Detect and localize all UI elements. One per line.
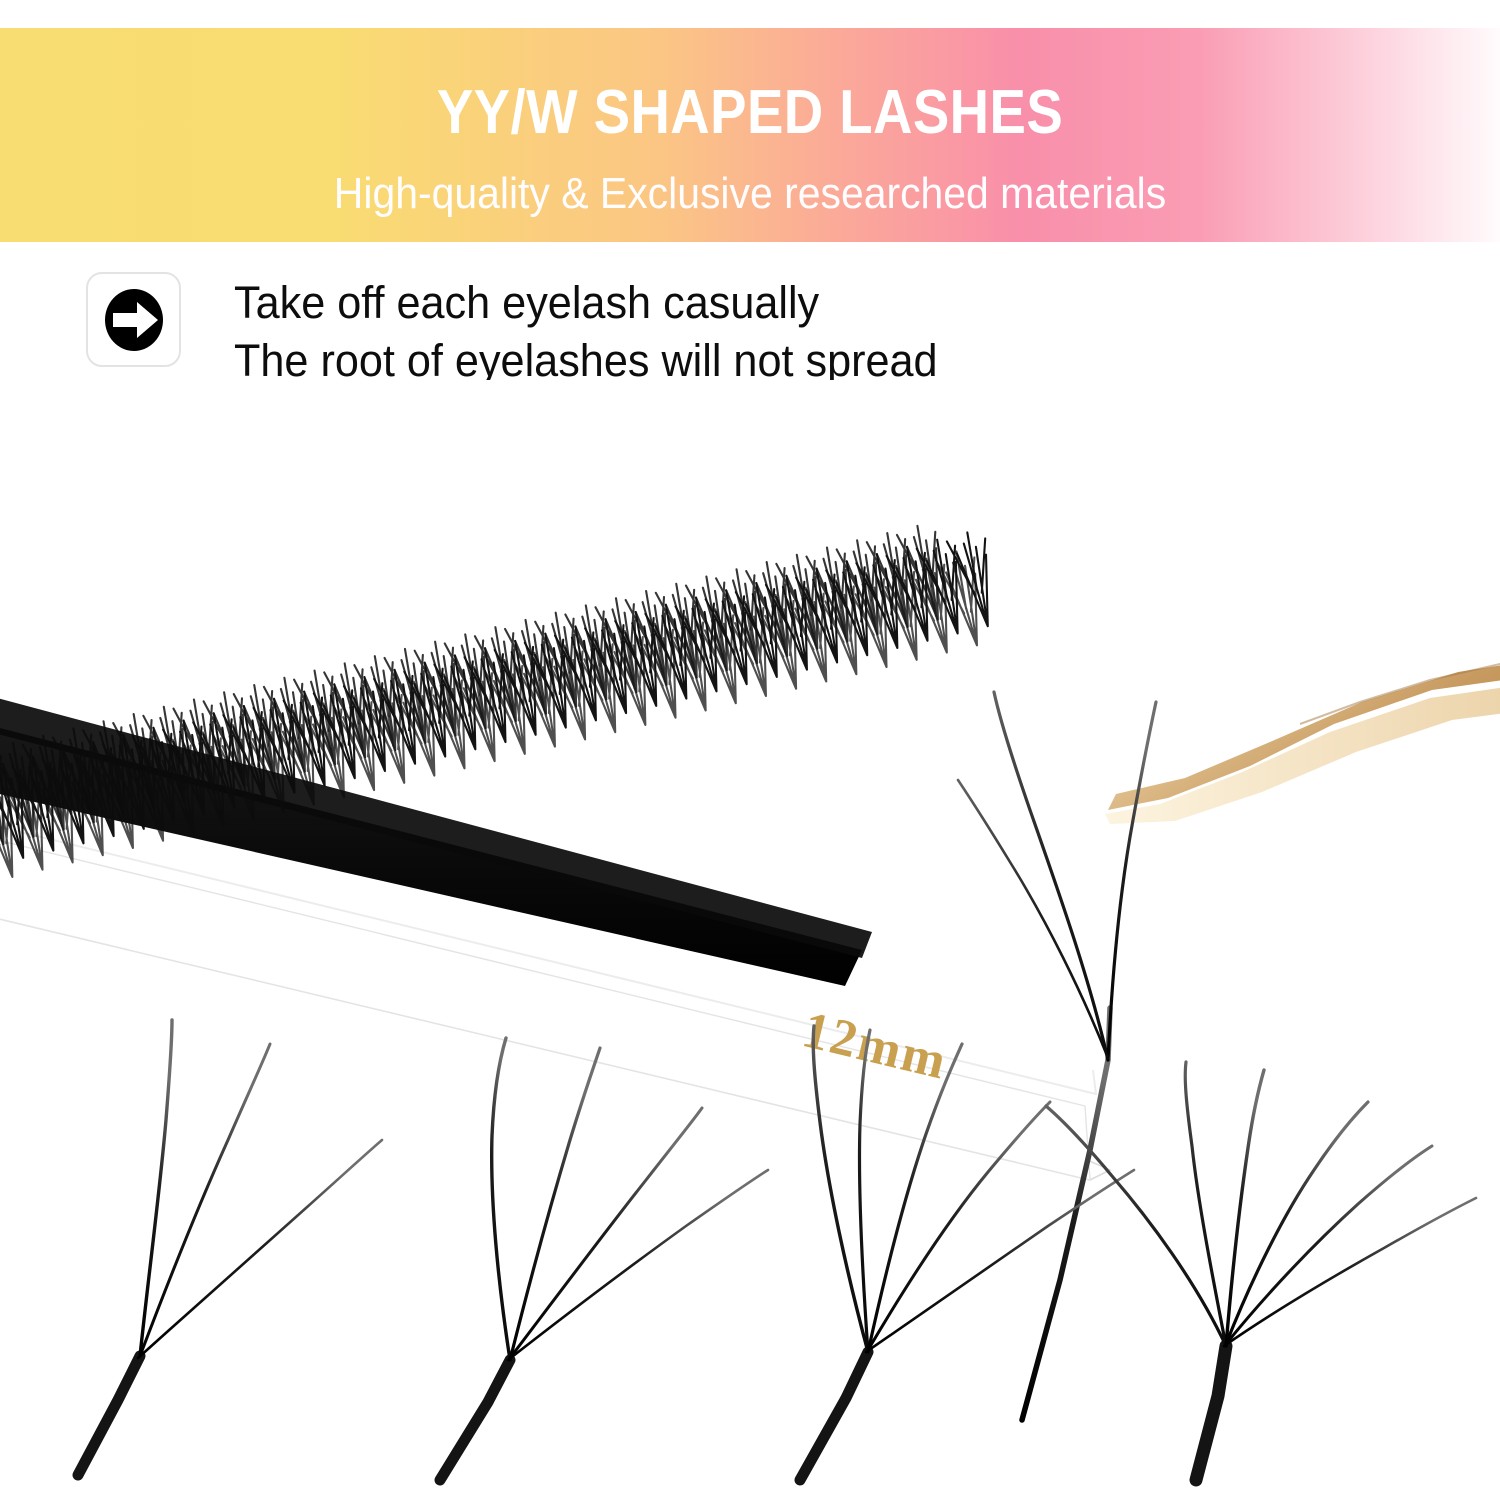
- lash-fan-tray: [0, 511, 1009, 889]
- tweezer: [1105, 656, 1500, 824]
- fan-6-branch: [1046, 1062, 1476, 1480]
- instruction-line-1: Take off each eyelash casually: [234, 274, 938, 332]
- instruction-block: Take off each eyelash casually The root …: [86, 272, 967, 390]
- page-subtitle: High-quality & Exclusive researched mate…: [53, 172, 1448, 216]
- arrow-badge: [86, 272, 181, 367]
- header-banner: YY/W SHAPED LASHES High-quality & Exclus…: [0, 28, 1500, 242]
- page-title: YY/W SHAPED LASHES: [90, 82, 1410, 144]
- arrow-right-circle-icon: [101, 287, 167, 353]
- fan-4-branch: [440, 1038, 768, 1480]
- product-photo: 12mm: [0, 380, 1500, 1500]
- fan-3-branch: [78, 1020, 382, 1475]
- instruction-text: Take off each eyelash casually The root …: [234, 274, 967, 390]
- lash-photo-svg: 12mm: [0, 380, 1500, 1500]
